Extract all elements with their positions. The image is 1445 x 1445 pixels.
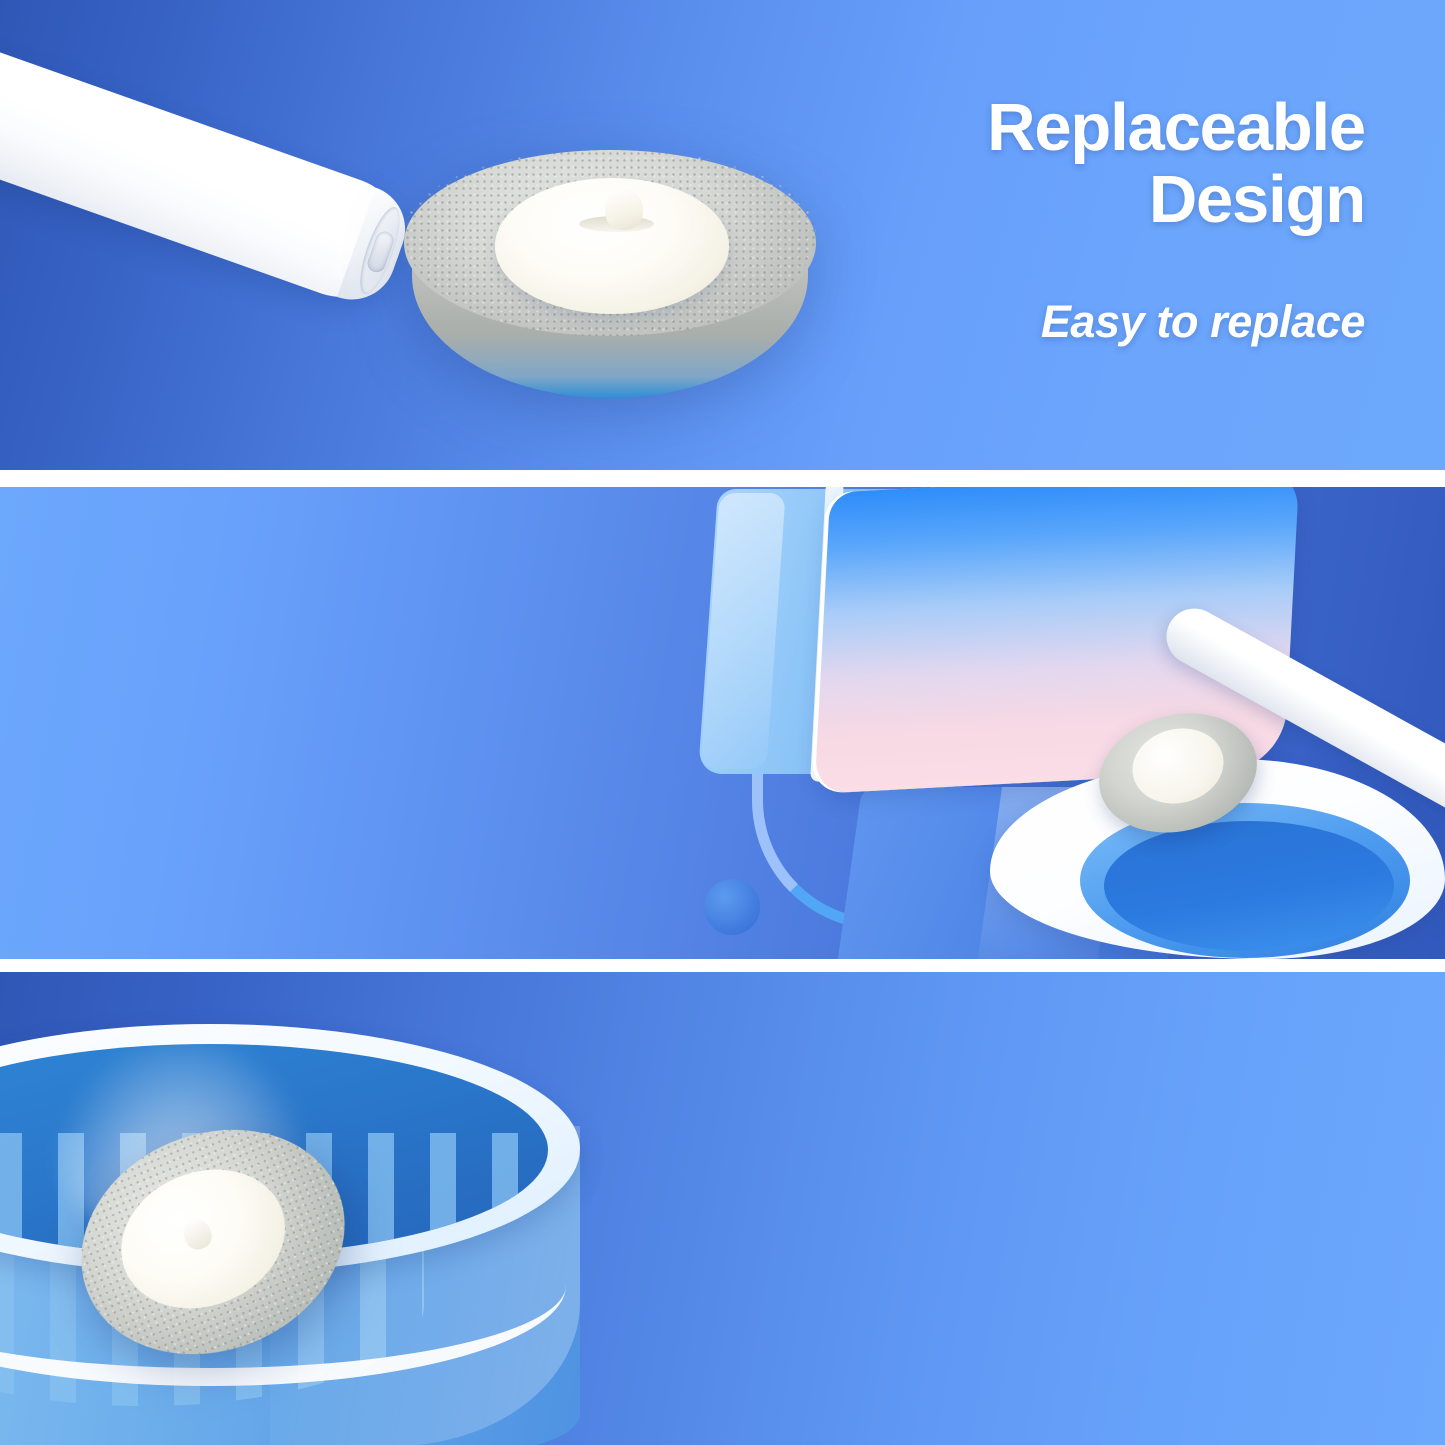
toilet-bowl-water xyxy=(1104,821,1394,951)
sponge-refill-disc xyxy=(404,150,816,432)
panel-1-subline: Easy to replace xyxy=(987,295,1365,348)
trash-bin-illustration xyxy=(0,1006,620,1445)
panel-divider-1 xyxy=(0,470,1445,487)
sponge-plastic-cap xyxy=(495,178,730,313)
sponge-cap-nub xyxy=(605,189,643,230)
product-feature-infographic: Replaceable Design Easy to replace Highe… xyxy=(0,0,1445,1445)
discarded-sponge-nub xyxy=(179,1215,215,1252)
panel-1-headline: Replaceable Design xyxy=(987,92,1365,237)
toilet-illustration xyxy=(690,487,1445,959)
panel-divider-2 xyxy=(0,959,1445,972)
panel-replaceable-design: Replaceable Design Easy to replace xyxy=(0,0,1445,470)
sponge-body xyxy=(404,150,816,432)
toilet-shutoff-valve xyxy=(704,879,760,935)
panel-one-click-discard: One-click discard Clean and hygienic xyxy=(0,972,1445,1445)
panel-1-text-block: Replaceable Design Easy to replace xyxy=(987,92,1365,348)
panel-higher-cleaning-efficiency: Higher cleaning Efficiency Multiple angl… xyxy=(0,487,1445,959)
